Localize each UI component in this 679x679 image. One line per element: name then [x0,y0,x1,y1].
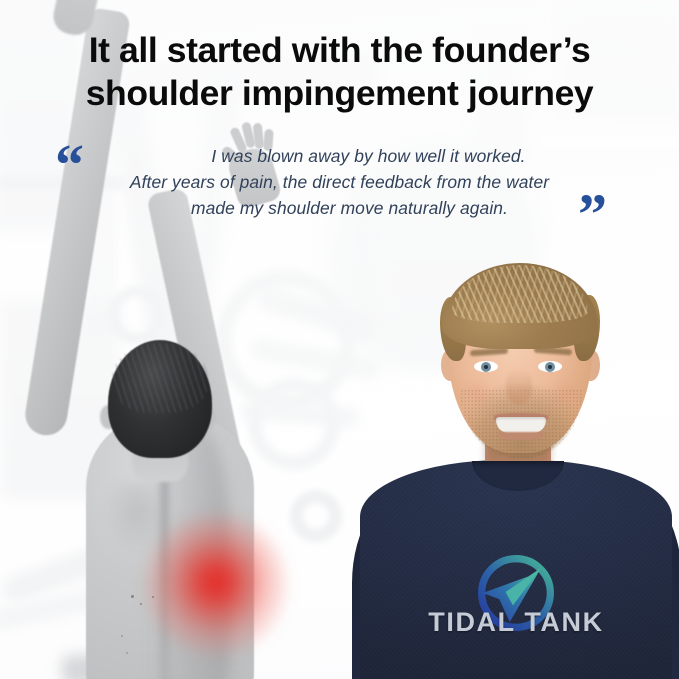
portrait-iris [545,362,555,372]
shoulder-pain-glow-indicator [146,515,286,655]
figure-skin-mark [152,596,154,598]
headline-line-1: It all started with the founder’s [42,29,637,72]
close-quote-icon: ” [578,186,607,244]
page-title: It all started with the founder’s should… [0,29,679,116]
tidal-tank-wordmark: TIDAL TANK [368,607,664,638]
portrait-smile-teeth [496,417,546,433]
portrait-eye [474,361,498,372]
pain-figure-illustration [0,215,330,679]
headline-line-2: shoulder impingement journey [42,72,637,115]
figure-skin-mark [131,595,134,598]
figure-shoulder-blade [104,481,160,555]
figure-skin-mark [126,652,128,654]
portrait-eye [538,361,562,372]
portrait-iris [481,362,491,372]
quote-line-1: I was blown away by how well it worked. [62,144,617,170]
figure-skin-mark [140,603,142,605]
figure-hair [112,343,208,413]
promo-image-canvas: TIDAL TANK It all started with the found… [0,0,679,679]
founder-portrait: TIDAL TANK [352,245,679,679]
quote-line-3: made my shoulder move naturally again. [62,196,617,222]
figure-skin-mark [121,635,123,637]
quote-line-2: After years of pain, the direct feedback… [62,170,617,196]
portrait-nose [506,369,532,405]
portrait-lower-lip [498,432,544,440]
portrait-hair-highlights [452,265,588,323]
